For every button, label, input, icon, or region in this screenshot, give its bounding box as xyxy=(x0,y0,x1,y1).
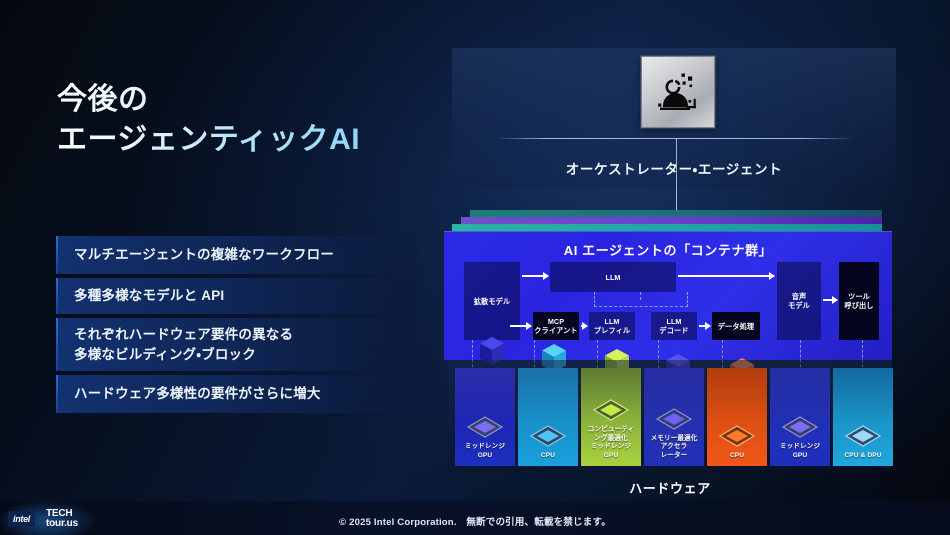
container-box-data-processing[interactable]: データ処理 xyxy=(712,312,760,340)
bullet-label-3: それぞれハードウェア要件の異なる 多様なビルディング・ブロック xyxy=(74,325,293,364)
container-box-llm-prefill[interactable]: LLM プレフィル xyxy=(589,312,635,340)
hardware-label-7: CPU & DPU xyxy=(844,452,881,460)
ai-agent-container-panel: AI エージェントの「コンテナ群」 拡散モデル LLM MCP クライアント L… xyxy=(444,231,892,360)
hardware-label-6: ミッドレンジ GPU xyxy=(780,443,820,460)
page-title: 今後の エージェンティックAI xyxy=(57,40,360,200)
chip-icon-3 xyxy=(592,398,630,422)
container-box-mcp-client[interactable]: MCP クライアント xyxy=(533,312,579,340)
arrow-voice-to-tool-icon xyxy=(823,299,837,301)
bullet-item-3: それぞれハードウェア要件の異なる 多様なビルディング・ブロック xyxy=(56,318,418,371)
arrow-mcp-to-prefill-icon xyxy=(581,325,587,327)
hardware-column-5[interactable]: CPU xyxy=(707,368,767,466)
hardware-label-4: メモリー最適化 アクセラ レーター xyxy=(651,435,698,460)
hardware-footer-label: ハードウェア xyxy=(448,478,892,497)
hardware-column-7[interactable]: CPU & DPU xyxy=(833,368,893,466)
chip-icon-2 xyxy=(529,424,567,448)
bullet-list: マルチエージェントの複雑なワークフロー 多種多様なモデルと API それぞれハー… xyxy=(56,236,418,417)
bullet-item-2: 多種多様なモデルと API xyxy=(56,278,418,314)
bullet-label-1: マルチエージェントの複雑なワークフロー xyxy=(74,245,334,265)
container-box-llm-decode[interactable]: LLM デコード xyxy=(651,312,697,340)
hardware-label-3: コンピューティ ング最適化 ミッドレンジ GPU xyxy=(588,426,634,460)
title-line-1: 今後の xyxy=(57,83,149,116)
container-box-voice-model[interactable]: 音声 モデル xyxy=(777,262,821,340)
container-panel-title: AI エージェントの「コンテナ群」 xyxy=(444,240,892,259)
bullet-item-1: マルチエージェントの複雑なワークフロー xyxy=(56,236,418,274)
hardware-column-1[interactable]: ミッドレンジ GPU xyxy=(455,368,515,466)
arrow-diffusion-to-mcp-icon xyxy=(510,325,531,327)
title-line-2: エージェンティックAI xyxy=(57,120,360,160)
chip-icon-5 xyxy=(718,424,756,448)
arrow-llm-to-voice-icon xyxy=(678,275,774,277)
slide-root: 今後の エージェンティックAI マルチエージェントの複雑なワークフロー 多種多様… xyxy=(0,0,950,535)
hardware-column-3[interactable]: コンピューティ ング最適化 ミッドレンジ GPU xyxy=(581,368,641,466)
bullet-label-2: 多種多様なモデルと API xyxy=(74,286,224,306)
bullet-item-4: ハードウェア多様性の要件がさらに増大 xyxy=(56,375,418,413)
chip-icon-1 xyxy=(466,415,504,439)
hardware-label-2: CPU xyxy=(541,452,555,460)
container-box-diffusion-model[interactable]: 拡散モデル xyxy=(464,262,520,340)
container-box-llm[interactable]: LLM xyxy=(550,262,676,292)
chip-icon-6 xyxy=(781,415,819,439)
chip-icon-4 xyxy=(655,407,693,431)
copyright-text: © 2025 Intel Corporation. 無断での引用、転載を禁じます… xyxy=(0,514,950,528)
arrow-decode-to-dataproc-icon xyxy=(699,325,710,327)
orchestrator-divider xyxy=(497,138,851,139)
hardware-label-1: ミッドレンジ GPU xyxy=(465,443,505,460)
hardware-label-5: CPU xyxy=(730,452,744,460)
llm-bracket-icon xyxy=(594,292,688,307)
hardware-column-2[interactable]: CPU xyxy=(518,368,578,466)
chip-icon-7 xyxy=(844,424,882,448)
hardware-column-6[interactable]: ミッドレンジ GPU xyxy=(770,368,830,466)
agent-person-icon xyxy=(641,56,715,128)
arrow-diffusion-to-llm-icon xyxy=(522,275,548,277)
hardware-column-4[interactable]: メモリー最適化 アクセラ レーター xyxy=(644,368,704,466)
bullet-label-4: ハードウェア多様性の要件がさらに増大 xyxy=(74,384,321,404)
container-box-tool-call[interactable]: ツール 呼び出し xyxy=(839,262,879,340)
orchestrator-label: オーケストレーター・エージェント xyxy=(452,158,896,178)
